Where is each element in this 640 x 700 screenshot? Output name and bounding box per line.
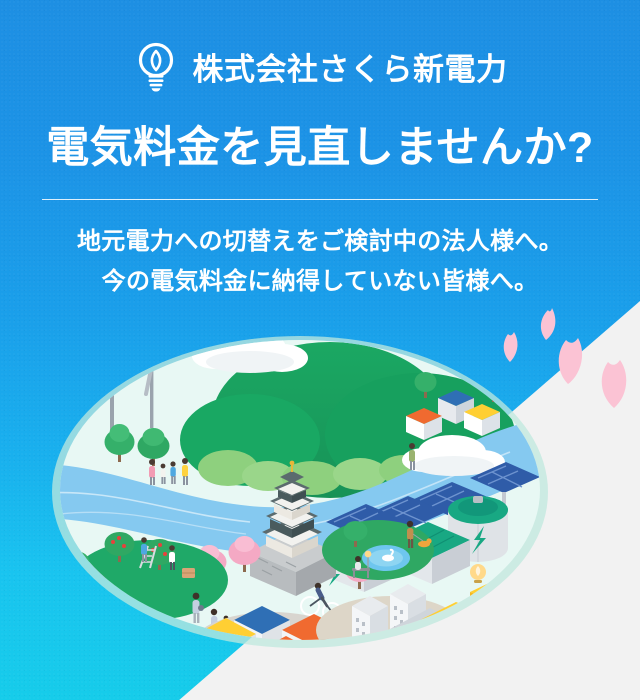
brand-row: 株式会社さくら新電力 [0, 40, 640, 92]
sakura-petals [504, 308, 627, 408]
isometric-town-illustration [0, 300, 640, 700]
subcopy-line-2: 今の電気料金に納得していない皆様へ。 [0, 262, 640, 302]
charging-sparks [448, 626, 517, 674]
subcopy-line-1: 地元電力への切替えをご検討中の法人様へ。 [0, 222, 640, 262]
park-pond [322, 520, 434, 580]
page-title: 電気料金を見直しませんか? [0, 113, 640, 175]
lightbulb-icon [133, 40, 179, 92]
subcopy: 地元電力への切替えをご検討中の法人様へ。 今の電気料金に納得していない皆様へ。 [0, 222, 640, 302]
company-name: 株式会社さくら新電力 [193, 44, 508, 89]
hero-page: 株式会社さくら新電力 電気料金を見直しませんか? 地元電力への切替えをご検討中の… [0, 0, 640, 700]
divider [42, 199, 598, 200]
